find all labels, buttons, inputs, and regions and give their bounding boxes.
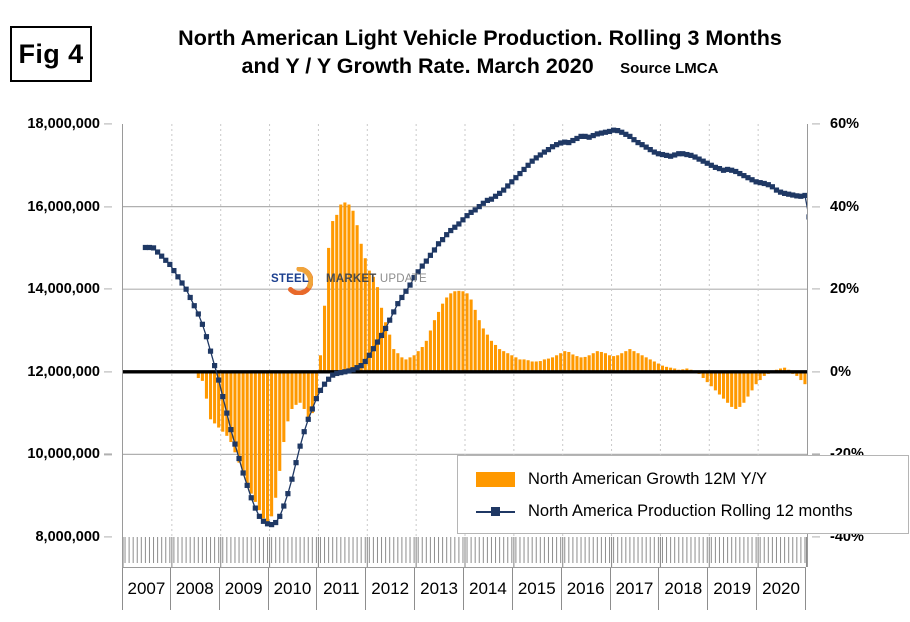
- right-axis-tick: 40%: [812, 199, 910, 215]
- right-axis-tickmark: [812, 536, 820, 537]
- left-axis-tick-labels: 8,000,00010,000,00012,000,00014,000,0001…: [0, 124, 112, 537]
- right-axis-tick: 20%: [812, 281, 910, 297]
- right-axis-tickmark: [812, 123, 820, 124]
- x-axis-year-label: 2009: [220, 568, 269, 610]
- figure-number-box: Fig 4: [10, 26, 92, 82]
- logo-text-steel: STEEL: [271, 273, 309, 285]
- x-axis-year-label: 2008: [171, 568, 220, 610]
- chart-title-line2: and Y / Y Growth Rate. March 2020: [242, 54, 594, 78]
- logo-text-update: UPDATE: [380, 273, 427, 285]
- left-axis-tickmark: [104, 536, 112, 537]
- chart-title-block: North American Light Vehicle Production.…: [100, 25, 860, 80]
- chart-area: 8,000,00010,000,00012,000,00014,000,0001…: [0, 104, 910, 622]
- left-axis-tickmark: [104, 123, 112, 124]
- left-axis-tick: 18,000,000: [0, 116, 112, 132]
- steel-market-update-logo: STEEL MARKET UPDATE: [271, 266, 421, 296]
- x-axis-year-label: 2018: [659, 568, 708, 610]
- x-axis-year-label: 2010: [269, 568, 318, 610]
- right-axis-tick: 60%: [812, 116, 910, 132]
- chart-source-label: Source LMCA: [598, 60, 718, 77]
- month-ticks-svg: [123, 537, 807, 567]
- figure-number-label: Fig 4: [18, 39, 83, 70]
- left-axis-tick: 8,000,000: [0, 529, 112, 545]
- legend-line-swatch-icon: [476, 504, 515, 519]
- chart-title-line2-row: and Y / Y Growth Rate. March 2020 Source…: [100, 53, 860, 81]
- right-axis-tickmark: [812, 206, 820, 207]
- x-axis-year-label: 2020: [757, 568, 806, 610]
- x-axis-year-label: 2014: [464, 568, 513, 610]
- logo-text: STEEL MARKET UPDATE: [271, 273, 421, 285]
- x-axis-year-label: 2017: [611, 568, 660, 610]
- legend-item-bars: North American Growth 12M Y/Y: [476, 466, 767, 492]
- left-axis-tickmark: [104, 371, 112, 372]
- left-axis-tick: 12,000,000: [0, 364, 112, 380]
- legend-line-label: North America Production Rolling 12 mont…: [528, 502, 853, 521]
- left-axis-tick: 10,000,000: [0, 446, 112, 462]
- left-axis-tickmark: [104, 454, 112, 455]
- x-axis-year-label: 2016: [562, 568, 611, 610]
- x-axis-year-labels: 2007200820092010201120122013201420152016…: [122, 567, 806, 610]
- x-axis-year-label: 2012: [366, 568, 415, 610]
- x-axis-year-label: 2013: [415, 568, 464, 610]
- right-axis-tickmark: [812, 371, 820, 372]
- left-axis-tick: 14,000,000: [0, 281, 112, 297]
- chart-header: Fig 4 North American Light Vehicle Produ…: [0, 0, 910, 104]
- x-axis-month-ticks: [122, 537, 808, 567]
- logo-text-market: MARKET: [326, 273, 376, 285]
- chart-legend: North American Growth 12M Y/Y North Amer…: [457, 455, 909, 534]
- legend-bars-label: North American Growth 12M Y/Y: [528, 470, 767, 489]
- plot-area: STEEL MARKET UPDATE North American Growt…: [122, 124, 808, 537]
- left-axis-tick: 16,000,000: [0, 199, 112, 215]
- x-axis-year-label: 2015: [513, 568, 562, 610]
- legend-bar-swatch-icon: [476, 472, 515, 487]
- x-axis-year-label: 2011: [317, 568, 366, 610]
- x-axis-year-label: 2019: [708, 568, 757, 610]
- left-axis-tickmark: [104, 206, 112, 207]
- right-axis-tick: 0%: [812, 364, 910, 380]
- legend-item-line: North America Production Rolling 12 mont…: [476, 498, 853, 524]
- x-axis-year-label: 2007: [122, 568, 171, 610]
- right-axis-tickmark: [812, 289, 820, 290]
- chart-title-line1: North American Light Vehicle Production.…: [100, 25, 860, 53]
- left-axis-tickmark: [104, 289, 112, 290]
